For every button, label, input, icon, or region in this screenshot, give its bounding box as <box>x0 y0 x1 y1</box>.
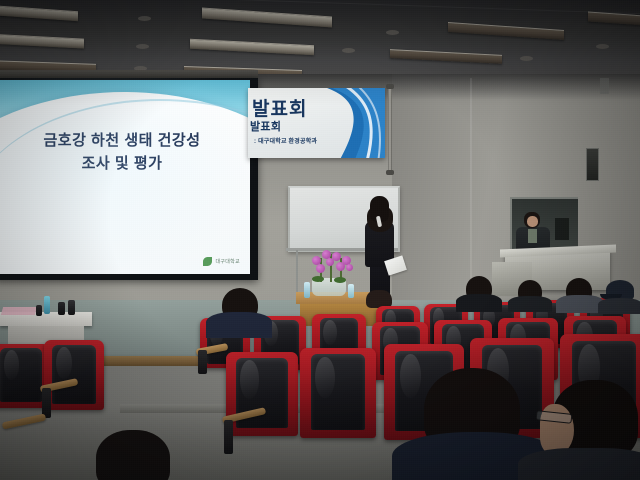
ceiling-fixture-icon <box>136 44 149 49</box>
audience-shoulders <box>556 295 604 313</box>
drink-can-icon <box>68 300 75 315</box>
event-banner: 발표회 발표회 : 대구대학교 환경공학과 <box>248 88 385 158</box>
pink-handouts <box>1 307 37 315</box>
slide-title: 금호강 하천 생태 건강성 조사 및 평가 <box>0 130 250 175</box>
ceiling-fixture-icon <box>520 56 533 61</box>
audience-shoulders <box>206 312 272 338</box>
water-bottle-icon <box>348 284 354 298</box>
armrest-post <box>224 420 233 454</box>
slide-surface: 금호강 하천 생태 건강성 조사 및 평가 대구대학교 <box>0 80 250 274</box>
audience-shoulders <box>508 296 552 312</box>
orchid-bloom <box>336 262 345 271</box>
banner-pole-cap-top <box>386 84 394 89</box>
ceiling-fixture-icon <box>386 30 399 35</box>
university-logo-icon <box>203 257 212 266</box>
banner-subline: 발표회 <box>250 118 281 134</box>
slide-title-line1: 금호강 하천 생태 건강성 <box>0 130 250 153</box>
seat-highlight <box>400 354 421 398</box>
whiteboard-leg <box>296 250 298 296</box>
slide-logo: 대구대학교 <box>203 257 240 266</box>
auditorium-scene: 금호강 하천 생태 건강성 조사 및 평가 대구대학교 발표회 발표회 : 대구… <box>0 0 640 480</box>
seat-highlight <box>56 347 72 379</box>
ceiling-fixture-icon <box>596 44 609 49</box>
fluorescent-light-icon <box>448 22 564 40</box>
banner-affiliation: : 대구대학교 환경공학과 <box>254 136 317 145</box>
chair-shirt <box>528 229 537 243</box>
water-bottle-icon <box>44 296 50 314</box>
slide-swoosh-outline <box>0 99 250 274</box>
fluorescent-light-icon <box>190 39 314 55</box>
fluorescent-light-icon <box>390 49 502 64</box>
alcove-equipment <box>555 218 569 240</box>
drink-can-icon <box>36 305 42 316</box>
auditorium-seat[interactable] <box>44 340 104 410</box>
audience-shoulders <box>456 294 502 312</box>
wall-speaker-icon <box>586 148 599 181</box>
seat-highlight <box>4 350 19 379</box>
presenter-with-microphone <box>358 196 400 306</box>
armrest-post <box>198 350 207 374</box>
ceiling-seam <box>0 0 640 14</box>
vent-icon <box>600 78 609 94</box>
auditorium-seat[interactable] <box>300 348 376 438</box>
audience-shoulders <box>518 448 640 480</box>
fluorescent-light-icon <box>0 33 84 48</box>
water-bottle-icon <box>304 282 310 298</box>
fluorescent-light-icon <box>202 7 332 27</box>
banner-wave-graphic <box>295 88 385 158</box>
banner-headline: 발표회 <box>252 94 307 121</box>
seat-highlight <box>315 357 335 398</box>
audience-head <box>96 430 170 480</box>
slide-logo-text: 대구대학교 <box>215 258 240 265</box>
banner-pole <box>388 86 392 172</box>
auditorium-seat[interactable] <box>226 352 298 436</box>
ceiling-fixture-icon <box>138 16 151 21</box>
orchid-bloom <box>346 264 353 271</box>
orchid-bloom <box>326 258 334 266</box>
chair-face <box>527 216 538 227</box>
projection-screen: 금호강 하천 생태 건강성 조사 및 평가 대구대학교 <box>0 78 258 280</box>
banner-pole-cap-bottom <box>386 170 394 175</box>
wall-corner-edge <box>470 78 472 278</box>
seat-highlight <box>323 320 337 346</box>
orchid-leaf <box>312 276 324 282</box>
slide-title-line2: 조사 및 평가 <box>0 153 250 176</box>
drink-can-icon <box>58 302 65 315</box>
ceiling-fixture-icon <box>342 48 355 53</box>
orchid-bloom <box>316 264 325 273</box>
audience-shoulders <box>598 298 640 314</box>
orchid-leaf <box>334 277 346 283</box>
fluorescent-light-icon <box>0 5 78 21</box>
seat-highlight <box>240 360 259 399</box>
